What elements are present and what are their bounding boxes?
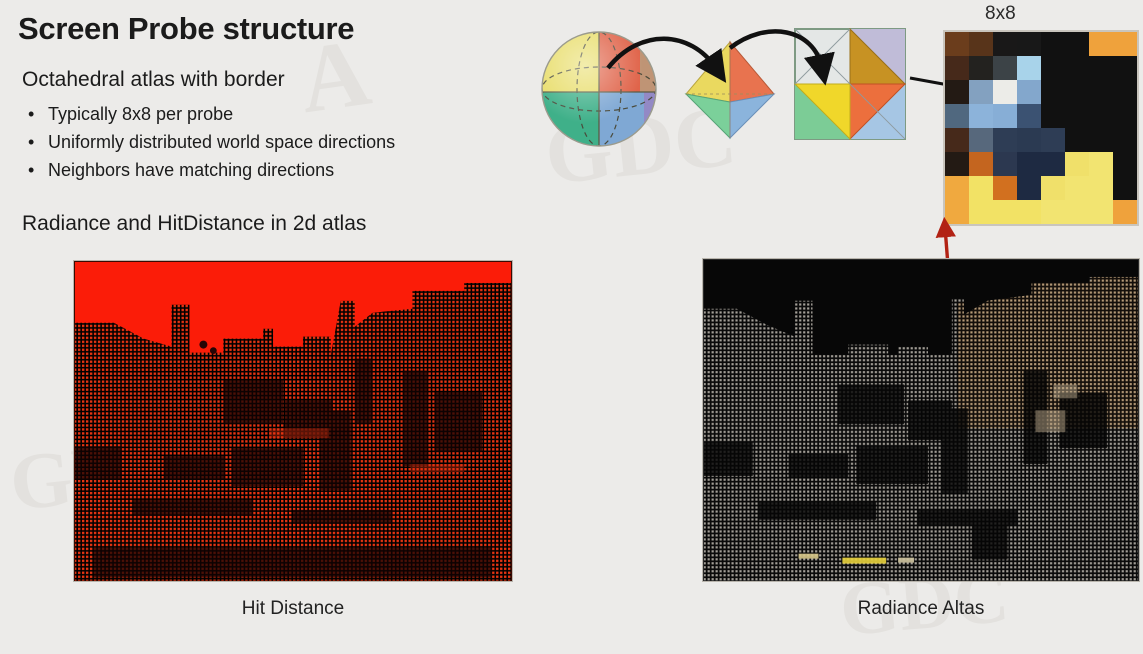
probe-pixel-6-3 (1017, 176, 1041, 200)
probe-pixel-5-2 (993, 152, 1017, 176)
probe-pixel-4-5 (1065, 128, 1089, 152)
probe-pixel-4-3 (1017, 128, 1041, 152)
probe-pixel-2-3 (1017, 80, 1041, 104)
probe-pixel-4-0 (945, 128, 969, 152)
probe-pixel-3-2 (993, 104, 1017, 128)
probe-atlas-8x8 (943, 30, 1139, 226)
probe-pixel-7-0 (945, 200, 969, 224)
probe-pixel-6-5 (1065, 176, 1089, 200)
probe-pixel-5-4 (1041, 152, 1065, 176)
bullet-marker: • (28, 156, 34, 184)
probe-pixel-6-0 (945, 176, 969, 200)
probe-pixel-7-2 (993, 200, 1017, 224)
probe-pixel-5-6 (1089, 152, 1113, 176)
probe-pixel-grid (945, 32, 1137, 224)
probe-pixel-5-7 (1113, 152, 1137, 176)
list-item: •Uniformly distributed world space direc… (22, 128, 395, 156)
hit-distance-render (74, 261, 512, 582)
probe-pixel-1-2 (993, 56, 1017, 80)
probe-pixel-5-0 (945, 152, 969, 176)
probe-pixel-1-0 (945, 56, 969, 80)
probe-pixel-0-6 (1089, 32, 1113, 56)
probe-pixel-2-7 (1113, 80, 1137, 104)
probe-pixel-4-6 (1089, 128, 1113, 152)
probe-pixel-1-7 (1113, 56, 1137, 80)
bullet-marker: • (28, 128, 34, 156)
probe-pixel-0-0 (945, 32, 969, 56)
probe-pixel-4-2 (993, 128, 1017, 152)
probe-pixel-0-1 (969, 32, 993, 56)
hit-distance-image (73, 260, 513, 582)
probe-pixel-4-7 (1113, 128, 1137, 152)
probe-pixel-2-1 (969, 80, 993, 104)
list-item-label: Typically 8x8 per probe (48, 104, 233, 124)
grid-size-label: 8x8 (985, 3, 1016, 25)
probe-pixel-1-4 (1041, 56, 1065, 80)
probe-pixel-7-7 (1113, 200, 1137, 224)
probe-pixel-4-4 (1041, 128, 1065, 152)
probe-pixel-2-5 (1065, 80, 1089, 104)
probe-pixel-4-1 (969, 128, 993, 152)
probe-pixel-6-4 (1041, 176, 1065, 200)
probe-pixel-0-5 (1065, 32, 1089, 56)
probe-pixel-6-1 (969, 176, 993, 200)
probe-pixel-5-3 (1017, 152, 1041, 176)
radiance-atlas-caption: Radiance Altas (702, 598, 1140, 620)
probe-pixel-7-1 (969, 200, 993, 224)
probe-pixel-6-2 (993, 176, 1017, 200)
probe-pixel-5-1 (969, 152, 993, 176)
probe-pixel-7-3 (1017, 200, 1041, 224)
probe-pixel-2-2 (993, 80, 1017, 104)
probe-pixel-7-6 (1089, 200, 1113, 224)
hit-distance-caption: Hit Distance (73, 598, 513, 620)
probe-pixel-2-6 (1089, 80, 1113, 104)
probe-pixel-3-7 (1113, 104, 1137, 128)
list-item-label: Neighbors have matching directions (48, 160, 334, 180)
probe-pixel-0-3 (1017, 32, 1041, 56)
probe-pixel-2-0 (945, 80, 969, 104)
probe-pixel-0-2 (993, 32, 1017, 56)
probe-pixel-5-5 (1065, 152, 1089, 176)
probe-pixel-3-4 (1041, 104, 1065, 128)
probe-pixel-6-6 (1089, 176, 1113, 200)
probe-pixel-3-0 (945, 104, 969, 128)
probe-pixel-2-4 (1041, 80, 1065, 104)
bullet-marker: • (28, 100, 34, 128)
probe-pixel-1-5 (1065, 56, 1089, 80)
list-item-label: Uniformly distributed world space direct… (48, 132, 395, 152)
probe-pixel-0-4 (1041, 32, 1065, 56)
probe-pixel-1-1 (969, 56, 993, 80)
subheading: Octahedral atlas with border (22, 68, 285, 92)
bullet-list: •Typically 8x8 per probe •Uniformly dist… (22, 100, 395, 184)
probe-pixel-7-5 (1065, 200, 1089, 224)
probe-pixel-0-7 (1113, 32, 1137, 56)
probe-pixel-1-3 (1017, 56, 1041, 80)
probe-pixel-3-1 (969, 104, 993, 128)
list-item: •Typically 8x8 per probe (22, 100, 395, 128)
probe-pixel-3-5 (1065, 104, 1089, 128)
probe-pixel-6-7 (1113, 176, 1137, 200)
probe-pixel-1-6 (1089, 56, 1113, 80)
octahedral-mapping-diagram (530, 10, 910, 170)
flow-arrows-icon (530, 10, 910, 170)
probe-pixel-3-3 (1017, 104, 1041, 128)
radiance-atlas-render (703, 259, 1139, 582)
probe-pixel-7-4 (1041, 200, 1065, 224)
radiance-atlas-image (702, 258, 1140, 582)
probe-pixel-3-6 (1089, 104, 1113, 128)
second-heading: Radiance and HitDistance in 2d atlas (22, 212, 366, 236)
slide-root: A GDC GDC GDC Screen Probe structure Oct… (0, 0, 1143, 627)
list-item: •Neighbors have matching directions (22, 156, 395, 184)
page-title: Screen Probe structure (18, 11, 354, 47)
